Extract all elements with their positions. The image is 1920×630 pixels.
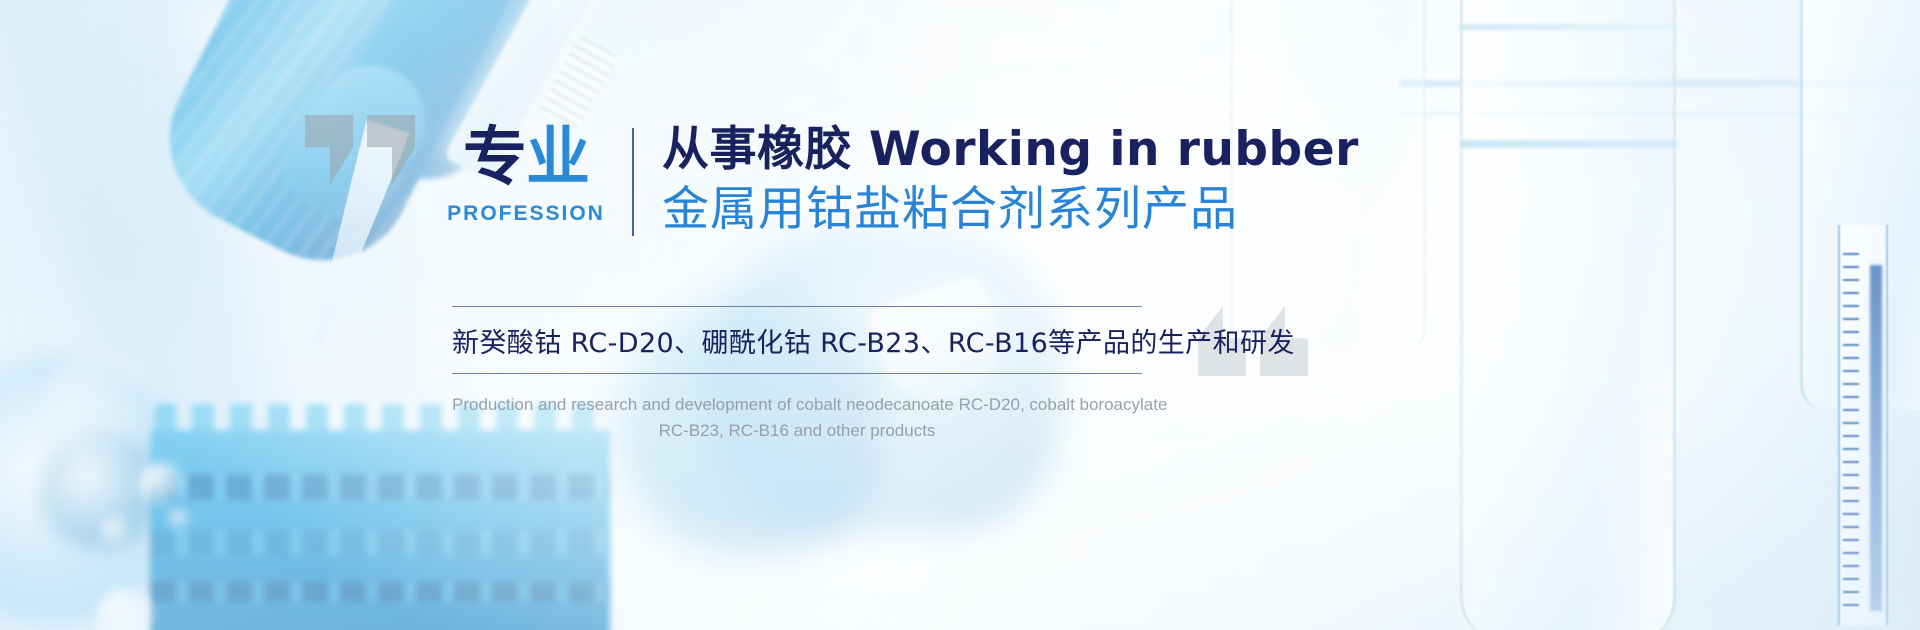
headline-line-1: 从事橡胶 Working in rubber bbox=[662, 122, 1359, 177]
banner-content: 专业 PROFESSION 从事橡胶 Working in rubber 金属用… bbox=[0, 0, 1920, 630]
rule-bottom bbox=[452, 373, 1142, 374]
vertical-divider bbox=[632, 128, 634, 236]
headline-line-2: 金属用钴盐粘合剂系列产品 bbox=[662, 181, 1359, 238]
subtitle-block: 新癸酸钴 RC-D20、硼酰化钴 RC-B23、RC-B16等产品的生产和研发 bbox=[452, 306, 1142, 374]
subtitle-english-line-1: Production and research and development … bbox=[452, 392, 1142, 418]
logo-chinese: 专业 bbox=[463, 126, 589, 191]
logo-english-label: PROFESSION bbox=[447, 202, 605, 226]
hero-banner: 专业 PROFESSION 从事橡胶 Working in rubber 金属用… bbox=[0, 0, 1920, 630]
profession-logo: 专业 PROFESSION bbox=[450, 122, 602, 226]
subtitle-english-line-2: RC-B23, RC-B16 and other products bbox=[452, 418, 1142, 444]
subtitle-chinese: 新癸酸钴 RC-D20、硼酰化钴 RC-B23、RC-B16等产品的生产和研发 bbox=[452, 307, 1142, 373]
logo-char-light: 业 bbox=[526, 121, 589, 195]
headline-text-group: 从事橡胶 Working in rubber 金属用钴盐粘合剂系列产品 bbox=[662, 122, 1359, 239]
logo-char-dark: 专 bbox=[463, 121, 526, 195]
subtitle-english: Production and research and development … bbox=[452, 392, 1142, 445]
headline-row: 专业 PROFESSION 从事橡胶 Working in rubber 金属用… bbox=[450, 122, 1359, 239]
rule-top bbox=[452, 306, 1142, 307]
